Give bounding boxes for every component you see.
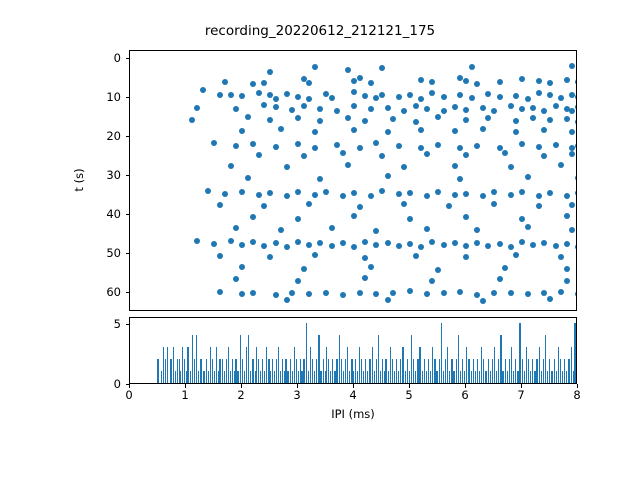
scatter-point xyxy=(485,115,491,121)
histogram-bar xyxy=(492,359,493,383)
scatter-point xyxy=(497,94,503,100)
scatter-point xyxy=(385,129,391,135)
scatter-point xyxy=(312,192,318,198)
histogram-bar xyxy=(388,371,389,383)
histogram-bar xyxy=(214,371,215,383)
scatter-point xyxy=(239,264,245,270)
histogram-bar xyxy=(201,359,202,383)
scatter-point xyxy=(205,188,211,194)
scatter-point xyxy=(435,114,441,120)
scatter-point xyxy=(463,243,469,249)
scatter-point xyxy=(519,216,525,222)
scatter-point xyxy=(547,190,553,196)
histogram-bar xyxy=(343,371,344,383)
histogram-bar xyxy=(276,359,277,383)
histogram-bar xyxy=(468,359,469,383)
histogram-bar xyxy=(208,371,209,383)
scatter-point xyxy=(306,201,312,207)
scatter-point xyxy=(575,143,577,149)
scatter-point xyxy=(368,80,374,86)
histogram-bar xyxy=(296,359,297,383)
scatter-point xyxy=(340,193,346,199)
scatter-point xyxy=(295,278,301,284)
histogram-bar xyxy=(428,359,429,383)
scatter-point xyxy=(569,63,575,69)
histogram-bar xyxy=(280,371,281,383)
scatter-point xyxy=(569,227,575,233)
scatter-point xyxy=(278,126,284,132)
x-tick-mark xyxy=(129,384,130,388)
scatter-point xyxy=(452,163,458,169)
histogram-bar xyxy=(558,347,559,383)
scatter-point xyxy=(340,150,346,156)
histogram-bar xyxy=(301,371,302,383)
scatter-point xyxy=(312,129,318,135)
scatter-point xyxy=(525,291,531,297)
scatter-point xyxy=(368,264,374,270)
scatter-point xyxy=(284,164,290,170)
histogram-bar xyxy=(528,359,529,383)
scatter-point xyxy=(233,106,239,112)
scatter-point xyxy=(233,276,239,282)
histogram-bar xyxy=(394,371,395,383)
histogram-bar xyxy=(539,347,540,383)
scatter-point xyxy=(424,151,430,157)
histogram-bar xyxy=(310,347,311,383)
histogram-bar xyxy=(380,371,381,383)
histogram-bar xyxy=(413,359,414,383)
scatter-point xyxy=(457,176,463,182)
y-tick-mark-top xyxy=(126,253,130,254)
y-tick-mark-top xyxy=(126,214,130,215)
scatter-point xyxy=(407,190,413,196)
scatter-point xyxy=(547,117,553,123)
histogram-bar xyxy=(479,371,480,383)
scatter-point xyxy=(317,106,323,112)
scatter-point xyxy=(317,176,323,182)
histogram-bar xyxy=(158,359,159,383)
scatter-point xyxy=(217,253,223,259)
scatter-point xyxy=(295,216,301,222)
x-tick-mark xyxy=(409,384,410,388)
scatter-point xyxy=(435,142,441,148)
histogram-bar xyxy=(571,347,572,383)
histogram-bar xyxy=(398,371,399,383)
scatter-point xyxy=(413,119,419,125)
histogram-bar xyxy=(212,359,213,383)
histogram-bar xyxy=(541,371,542,383)
scatter-point xyxy=(357,204,363,210)
scatter-point xyxy=(261,102,267,108)
scatter-point xyxy=(373,140,379,146)
histogram-bar xyxy=(303,359,304,383)
scatter-point xyxy=(553,142,559,148)
scatter-point xyxy=(513,118,519,124)
histogram-bar xyxy=(167,347,168,383)
scatter-point xyxy=(463,78,469,84)
scatter-point xyxy=(452,240,458,246)
scatter-point xyxy=(267,254,273,260)
histogram-bar xyxy=(443,371,444,383)
scatter-point xyxy=(306,96,312,102)
x-tick-mark xyxy=(521,384,522,388)
scatter-point xyxy=(508,290,514,296)
y-tick-mark-bottom xyxy=(126,324,130,325)
scatter-point xyxy=(362,275,368,281)
scatter-point xyxy=(429,278,435,284)
x-tick-label: 6 xyxy=(461,388,468,402)
scatter-point xyxy=(217,92,223,98)
histogram-bar xyxy=(294,347,295,383)
scatter-point xyxy=(189,117,195,123)
scatter-point xyxy=(497,241,503,247)
histogram-bar xyxy=(445,359,446,383)
histogram-bar xyxy=(554,359,555,383)
scatter-point xyxy=(525,174,531,180)
scatter-point xyxy=(329,243,335,249)
histogram-bar xyxy=(460,371,461,383)
histogram-bar xyxy=(477,359,478,383)
histogram-bar xyxy=(187,347,188,383)
histogram-bar xyxy=(260,371,261,383)
histogram-bar xyxy=(232,359,233,383)
scatter-point xyxy=(407,241,413,247)
scatter-point xyxy=(239,189,245,195)
scatter-point xyxy=(519,106,525,112)
y-axis-label: t (s) xyxy=(72,168,86,191)
scatter-point xyxy=(474,227,480,233)
scatter-point xyxy=(301,266,307,272)
scatter-point xyxy=(553,103,559,109)
histogram-bar xyxy=(378,335,379,383)
scatter-point xyxy=(396,143,402,149)
histogram-bar xyxy=(502,371,503,383)
histogram-bar xyxy=(568,359,569,383)
y-tick-label-top: 50 xyxy=(91,246,121,260)
scatter-point xyxy=(485,243,491,249)
scatter-point xyxy=(519,189,525,195)
scatter-point xyxy=(407,288,413,294)
scatter-point xyxy=(295,94,301,100)
scatter-point xyxy=(558,254,564,260)
scatter-point xyxy=(547,92,553,98)
histogram-bar xyxy=(382,359,383,383)
histogram-bar xyxy=(376,359,377,383)
scatter-point xyxy=(217,202,223,208)
scatter-point xyxy=(351,103,357,109)
scatter-point xyxy=(441,94,447,100)
scatter-point xyxy=(536,78,542,84)
scatter-point xyxy=(575,175,577,181)
scatter-point xyxy=(379,65,385,71)
scatter-point xyxy=(469,64,475,70)
histogram-bar xyxy=(290,359,291,383)
scatter-point xyxy=(424,106,430,112)
histogram-bar xyxy=(475,371,476,383)
scatter-point xyxy=(452,104,458,110)
scatter-point xyxy=(357,290,363,296)
scatter-point xyxy=(564,241,570,247)
histogram-bar xyxy=(545,335,546,383)
histogram-bar xyxy=(314,371,315,383)
scatter-point xyxy=(368,106,374,112)
histogram-bar xyxy=(203,371,204,383)
scatter-point xyxy=(530,242,536,248)
y-tick-mark-top xyxy=(126,58,130,59)
scatter-point xyxy=(508,244,514,250)
histogram-bar xyxy=(184,359,185,383)
scatter-point xyxy=(424,226,430,232)
histogram-bar xyxy=(165,359,166,383)
histogram-bar xyxy=(332,359,333,383)
histogram-bar xyxy=(170,359,171,383)
scatter-point xyxy=(575,104,577,110)
histogram-bar xyxy=(496,371,497,383)
scatter-point xyxy=(351,89,357,95)
histogram-bar xyxy=(248,335,249,383)
scatter-point xyxy=(463,107,469,113)
scatter-point xyxy=(497,79,503,85)
scatter-point xyxy=(541,108,547,114)
scatter-point xyxy=(480,298,486,304)
histogram-bar xyxy=(524,371,525,383)
scatter-point xyxy=(239,93,245,99)
scatter-point xyxy=(441,290,447,296)
scatter-point xyxy=(463,191,469,197)
histogram-bar xyxy=(252,359,253,383)
scatter-point xyxy=(250,81,256,87)
histogram-bar xyxy=(547,371,548,383)
scatter-point xyxy=(569,151,575,157)
scatter-point xyxy=(424,193,430,199)
scatter-point xyxy=(530,105,536,111)
scatter-point xyxy=(413,253,419,259)
scatter-point xyxy=(407,216,413,222)
scatter-point xyxy=(564,116,570,122)
histogram-bar xyxy=(359,347,360,383)
scatter-point xyxy=(362,255,368,261)
scatter-point xyxy=(329,95,335,101)
scatter-point xyxy=(396,94,402,100)
y-tick-label-top: 0 xyxy=(91,51,121,65)
scatter-point xyxy=(569,108,575,114)
x-tick-label: 0 xyxy=(125,388,132,402)
scatter-point xyxy=(306,80,312,86)
scatter-point xyxy=(441,108,447,114)
scatter-point xyxy=(469,95,475,101)
x-axis-label: IPI (ms) xyxy=(129,407,577,421)
scatter-point xyxy=(289,290,295,296)
scatter-point xyxy=(569,202,575,208)
histogram-bar xyxy=(374,371,375,383)
histogram-bar xyxy=(347,347,348,383)
scatter-point xyxy=(480,126,486,132)
histogram-bar xyxy=(458,335,459,383)
histogram-bar xyxy=(536,359,537,383)
scatter-point xyxy=(317,240,323,246)
histogram-bar xyxy=(471,371,472,383)
scatter-point xyxy=(284,91,290,97)
histogram-bar xyxy=(266,347,267,383)
scatter-point xyxy=(525,224,531,230)
scatter-point xyxy=(261,203,267,209)
scatter-point xyxy=(575,190,577,196)
histogram-bar xyxy=(175,371,176,383)
scatter-point xyxy=(228,92,234,98)
scatter-point xyxy=(536,193,542,199)
y-tick-label-bottom: 0 xyxy=(91,377,121,391)
scatter-point xyxy=(474,240,480,246)
scatter-point xyxy=(519,76,525,82)
histogram-bar xyxy=(308,371,309,383)
scatter-point xyxy=(491,201,497,207)
scatter-point xyxy=(250,214,256,220)
histogram-bar xyxy=(298,371,299,383)
histogram-bar xyxy=(424,359,425,383)
histogram-bar xyxy=(415,371,416,383)
scatter-point xyxy=(317,118,323,124)
histogram-bar xyxy=(330,371,331,383)
x-tick-mark xyxy=(577,384,578,388)
histogram-bar xyxy=(411,335,412,383)
scatter-point xyxy=(256,192,262,198)
histogram-bar xyxy=(318,335,319,383)
scatter-point xyxy=(284,297,290,303)
scatter-point xyxy=(401,164,407,170)
scatter-point xyxy=(564,193,570,199)
x-tick-label: 4 xyxy=(349,388,356,402)
scatter-point xyxy=(491,290,497,296)
scatter-point xyxy=(289,107,295,113)
scatter-point xyxy=(385,173,391,179)
histogram-bar xyxy=(287,371,288,383)
histogram-bar xyxy=(456,359,457,383)
histogram-bar xyxy=(441,323,442,383)
histogram-bar xyxy=(341,359,342,383)
histogram-bar xyxy=(372,347,373,383)
scatter-point xyxy=(463,117,469,123)
histogram-bar xyxy=(269,371,270,383)
scatter-point xyxy=(267,117,273,123)
histogram-bar xyxy=(163,347,164,383)
histogram-bar xyxy=(345,359,346,383)
histogram-bar xyxy=(349,371,350,383)
scatter-point xyxy=(295,189,301,195)
histogram-bar xyxy=(481,347,482,383)
histogram-bar xyxy=(173,347,174,383)
histogram-bar xyxy=(522,359,523,383)
scatter-point xyxy=(273,240,279,246)
scatter-point xyxy=(323,290,329,296)
histogram-bar xyxy=(177,359,178,383)
histogram-bar xyxy=(466,347,467,383)
scatter-point xyxy=(435,189,441,195)
y-tick-mark-bottom xyxy=(126,384,130,385)
scatter-point xyxy=(306,242,312,248)
scatter-point xyxy=(536,203,542,209)
scatter-point xyxy=(513,252,519,258)
x-tick-mark xyxy=(241,384,242,388)
scatter-point xyxy=(351,244,357,250)
scatter-point xyxy=(435,267,441,273)
x-tick-mark xyxy=(353,384,354,388)
histogram-bar xyxy=(256,347,257,383)
scatter-point xyxy=(345,162,351,168)
histogram-bar xyxy=(240,335,241,383)
histogram-bar xyxy=(532,359,533,383)
y-tick-mark-top xyxy=(126,97,130,98)
scatter-point xyxy=(312,64,318,70)
scatter-point xyxy=(564,278,570,284)
histogram-bar xyxy=(285,359,286,383)
histogram-bar xyxy=(530,371,531,383)
scatter-point xyxy=(401,201,407,207)
histogram-bar xyxy=(419,347,420,383)
scatter-point xyxy=(340,292,346,298)
histogram-bar xyxy=(509,359,510,383)
histogram-bar xyxy=(526,347,527,383)
x-tick-label: 5 xyxy=(405,388,412,402)
histogram-bar xyxy=(326,347,327,383)
histogram-bar xyxy=(357,371,358,383)
histogram-bar xyxy=(488,359,489,383)
histogram-bar xyxy=(385,359,386,383)
scatter-point xyxy=(385,240,391,246)
scatter-point xyxy=(474,143,480,149)
scatter-point xyxy=(558,289,564,295)
y-tick-mark-top xyxy=(126,136,130,137)
scatter-point xyxy=(513,93,519,99)
scatter-point xyxy=(457,289,463,295)
histogram-bar xyxy=(352,371,353,383)
histogram-bar xyxy=(244,371,245,383)
x-tick-mark xyxy=(297,384,298,388)
histogram-bar xyxy=(464,371,465,383)
x-tick-label: 2 xyxy=(237,388,244,402)
scatter-point xyxy=(233,143,239,149)
scatter-point xyxy=(379,153,385,159)
scatter-point xyxy=(239,242,245,248)
histogram-bar xyxy=(161,371,162,383)
histogram-bar xyxy=(543,359,544,383)
scatter-point xyxy=(245,114,251,120)
scatter-point xyxy=(474,292,480,298)
scatter-point xyxy=(295,141,301,147)
scatter-point xyxy=(351,190,357,196)
scatter-point xyxy=(329,225,335,231)
histogram-bar xyxy=(549,359,550,383)
y-tick-mark-top xyxy=(126,175,130,176)
histogram-bar xyxy=(369,359,370,383)
histogram-bar xyxy=(451,359,452,383)
histogram-bar xyxy=(264,371,265,383)
scatter-point xyxy=(233,225,239,231)
scatter-point xyxy=(256,152,262,158)
histogram-bar xyxy=(462,359,463,383)
histogram-bar xyxy=(498,359,499,383)
histogram-bar xyxy=(320,371,321,383)
histogram-bar xyxy=(434,359,435,383)
y-tick-label-top: 30 xyxy=(91,168,121,182)
y-tick-label-bottom: 5 xyxy=(91,317,121,331)
scatter-point xyxy=(228,238,234,244)
x-tick-label: 1 xyxy=(181,388,188,402)
scatter-point xyxy=(463,254,469,260)
scatter-point xyxy=(267,69,273,75)
histogram-bar xyxy=(278,347,279,383)
histogram-bar xyxy=(426,371,427,383)
scatter-point xyxy=(239,291,245,297)
